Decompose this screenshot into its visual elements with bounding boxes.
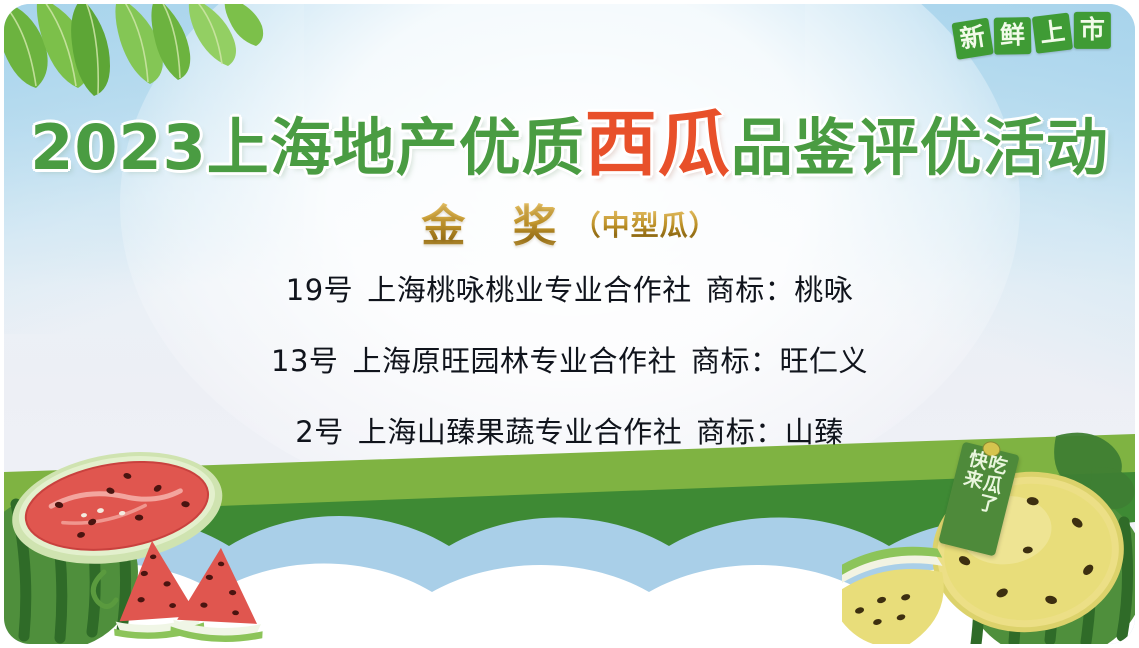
winner-row: 19号上海桃咏桃业专业合作社商标：桃咏: [0, 276, 1139, 305]
award-label: 金 奖: [421, 201, 572, 252]
award-category: （中型瓜）: [573, 209, 718, 242]
winner-brand: 商标：桃咏: [706, 273, 854, 307]
poster-title: 2023上海地产优质西瓜品鉴评优活动: [0, 108, 1139, 180]
winner-brand: 商标：山臻: [696, 415, 844, 449]
title-part-2: 品鉴评优活动: [731, 111, 1109, 184]
winner-row: 13号上海原旺园林专业合作社商标：旺仁义: [0, 347, 1139, 376]
winner-number: 19号: [286, 273, 353, 307]
winner-row: 2号上海山臻果蔬专业合作社商标：山臻: [0, 418, 1139, 447]
poster-root: 吃 瓜 了 快 来 新 鲜 上 市 2023上海地产优质西瓜品鉴评优活动 金 奖…: [0, 0, 1139, 648]
badge-char: 鲜: [994, 17, 1032, 55]
winners-list: 19号上海桃咏桃业专业合作社商标：桃咏 13号上海原旺园林专业合作社商标：旺仁义…: [0, 276, 1139, 489]
badge-char: 新: [951, 18, 993, 60]
badge-char: 市: [1074, 12, 1111, 49]
sign-char: 了: [976, 492, 999, 516]
winner-org: 上海原旺园林专业合作社: [352, 344, 677, 378]
title-highlight: 西瓜: [585, 102, 731, 186]
badge-char: 上: [1032, 12, 1073, 53]
winner-org: 上海山臻果蔬专业合作社: [358, 415, 683, 449]
title-part-1: 2023上海地产优质: [30, 111, 585, 184]
winner-org: 上海桃咏桃业专业合作社: [367, 273, 692, 307]
winner-number: 2号: [295, 415, 343, 449]
winner-number: 13号: [271, 344, 338, 378]
award-subtitle: 金 奖（中型瓜）: [0, 205, 1139, 249]
winner-brand: 商标：旺仁义: [691, 344, 868, 378]
